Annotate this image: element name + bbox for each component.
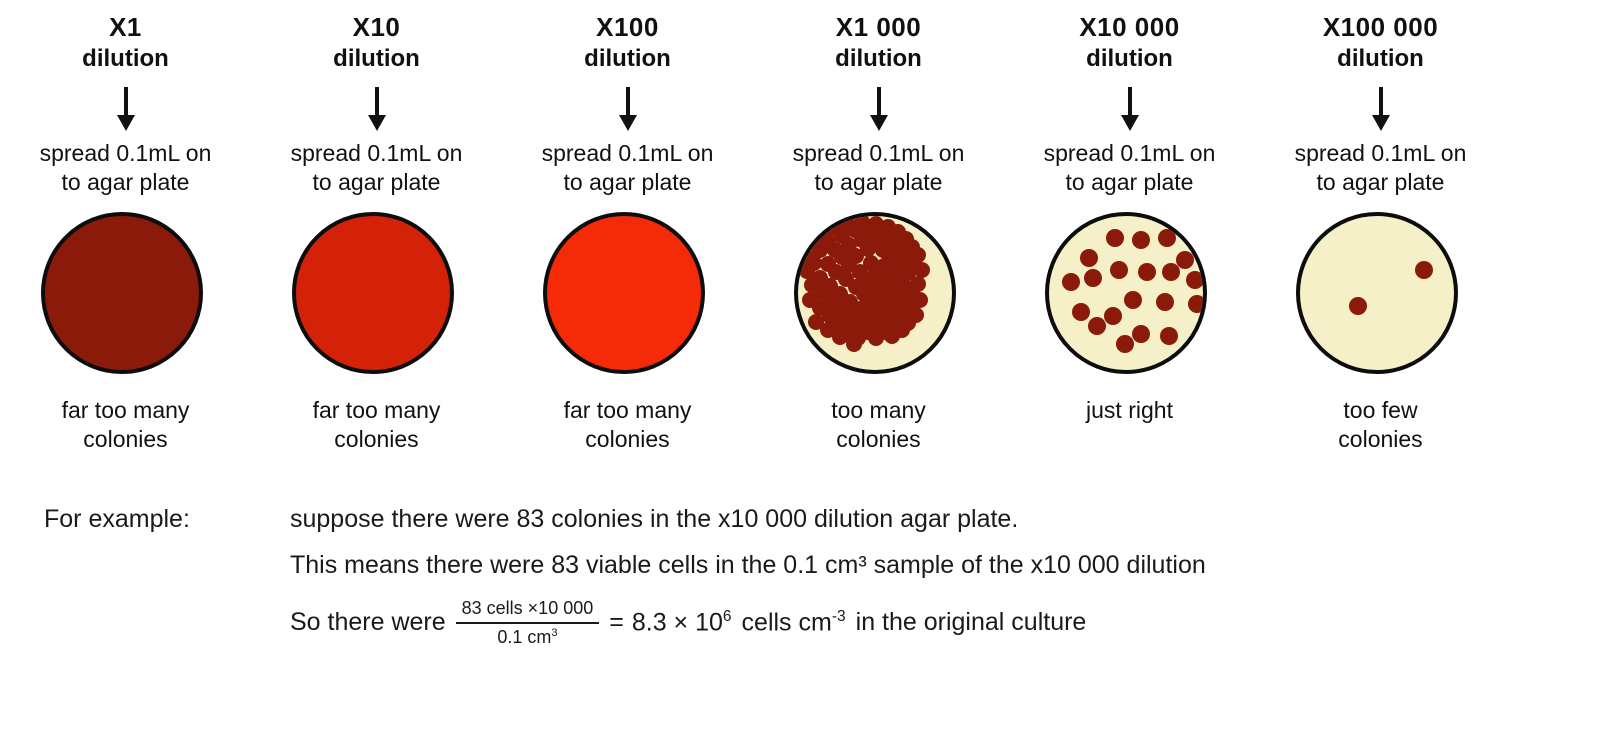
spread-instruction-line2: to agar plate: [1044, 168, 1216, 197]
plate-caption-line2: colonies: [62, 425, 190, 454]
spread-instruction: spread 0.1mL onto agar plate: [40, 139, 212, 196]
spread-instruction: spread 0.1mL onto agar plate: [291, 139, 463, 196]
colony: [1160, 327, 1178, 345]
example-calculation-block: For example: suppose there were 83 colon…: [0, 505, 1608, 648]
dilution-column-1: X1dilutionspread 0.1mL onto agar platefa…: [0, 0, 251, 500]
spread-instruction-line1: spread 0.1mL on: [40, 139, 212, 168]
example-label: For example:: [0, 505, 290, 534]
plate-caption-line2: colonies: [831, 425, 926, 454]
spread-instruction-line1: spread 0.1mL on: [793, 139, 965, 168]
spread-instruction: spread 0.1mL onto agar plate: [793, 139, 965, 196]
colony: [1062, 273, 1080, 291]
agar-plate-x1: [41, 212, 203, 374]
plate-caption: far too manycolonies: [313, 396, 441, 454]
dilution-subtitle: dilution: [1086, 44, 1173, 73]
colony: [1110, 261, 1128, 279]
plate-wrapper: [292, 212, 462, 382]
plate-caption-line1: too few: [1338, 396, 1422, 425]
colony: [1158, 229, 1176, 247]
dilution-subtitle: dilution: [835, 44, 922, 73]
spread-instruction: spread 0.1mL onto agar plate: [542, 139, 714, 196]
spread-instruction-line1: spread 0.1mL on: [542, 139, 714, 168]
spread-instruction-line1: spread 0.1mL on: [1295, 139, 1467, 168]
spread-instruction-line2: to agar plate: [291, 168, 463, 197]
colony: [1156, 293, 1174, 311]
dilution-title: X10 000: [1079, 12, 1179, 44]
down-arrow-icon: [615, 87, 641, 131]
dilution-column-4: X1 000dilutionspread 0.1mL onto agar pla…: [753, 0, 1004, 500]
example-equation-row: So there were 83 cells ×10 000 0.1 cm3 =…: [0, 597, 1608, 648]
plate-caption: far too manycolonies: [564, 396, 692, 454]
equation-units: cells cm-3: [742, 608, 846, 637]
colony: [1116, 335, 1134, 353]
colony: [1124, 291, 1142, 309]
agar-plate-x10000: [1045, 212, 1207, 374]
result-exponent: 6: [723, 608, 732, 625]
down-arrow-icon: [866, 87, 892, 131]
colony: [846, 336, 862, 352]
agar-plate-x100000: [1296, 212, 1458, 374]
plate-wrapper: [1296, 212, 1466, 382]
fraction-numerator: 83 cells ×10 000: [456, 597, 600, 622]
dilution-title: X10: [353, 12, 401, 44]
spread-instruction-line1: spread 0.1mL on: [1044, 139, 1216, 168]
colony: [1106, 229, 1124, 247]
spread-instruction-line2: to agar plate: [793, 168, 965, 197]
colony: [1349, 297, 1367, 315]
dilution-column-2: X10dilutionspread 0.1mL onto agar platef…: [251, 0, 502, 500]
dilution-column-3: X100dilutionspread 0.1mL onto agar plate…: [502, 0, 753, 500]
plate-caption-line1: far too many: [62, 396, 190, 425]
spread-instruction-line2: to agar plate: [1295, 168, 1467, 197]
down-arrow-icon: [1368, 87, 1394, 131]
units-exponent: -3: [832, 608, 846, 625]
equation-lead: So there were: [290, 608, 446, 637]
colony: [1188, 295, 1206, 313]
colony: [1138, 263, 1156, 281]
dilution-subtitle: dilution: [584, 44, 671, 73]
colony: [1132, 231, 1150, 249]
example-line-1: suppose there were 83 colonies in the x1…: [290, 505, 1608, 534]
plate-caption: far too manycolonies: [62, 396, 190, 454]
dilution-title: X100 000: [1323, 12, 1438, 44]
down-arrow-icon: [113, 87, 139, 131]
colony: [1415, 261, 1433, 279]
result-mantissa: 8.3 × 10: [632, 608, 723, 636]
plate-caption: just right: [1086, 396, 1173, 425]
equation-result: 8.3 × 106: [632, 608, 732, 637]
spread-instruction-line2: to agar plate: [542, 168, 714, 197]
equation-fraction: 83 cells ×10 000 0.1 cm3: [456, 597, 600, 648]
agar-plate-x10: [292, 212, 454, 374]
down-arrow-icon: [364, 87, 390, 131]
plate-caption-line2: colonies: [313, 425, 441, 454]
plate-caption-line1: far too many: [564, 396, 692, 425]
colony: [1162, 263, 1180, 281]
dilution-title: X1: [109, 12, 142, 44]
equation-equals: =: [609, 608, 624, 637]
plate-wrapper: [41, 212, 211, 382]
spread-instruction: spread 0.1mL onto agar plate: [1044, 139, 1216, 196]
colony: [1104, 307, 1122, 325]
plate-caption-line2: colonies: [564, 425, 692, 454]
agar-plate-x100: [543, 212, 705, 374]
example-line-2: This means there were 83 viable cells in…: [290, 551, 1608, 580]
units-base: cells cm: [742, 608, 832, 636]
dilution-subtitle: dilution: [333, 44, 420, 73]
plate-caption-line1: too many: [831, 396, 926, 425]
dilution-column-6: X100 000dilutionspread 0.1mL onto agar p…: [1255, 0, 1506, 500]
spread-instruction-line1: spread 0.1mL on: [291, 139, 463, 168]
colony: [884, 328, 900, 344]
plate-caption-line1: far too many: [313, 396, 441, 425]
plate-caption-line2: colonies: [1338, 425, 1422, 454]
spread-instruction: spread 0.1mL onto agar plate: [1295, 139, 1467, 196]
colony: [1084, 269, 1102, 287]
example-equation: So there were 83 cells ×10 000 0.1 cm3 =…: [290, 597, 1608, 648]
colony: [868, 330, 884, 346]
dilution-title: X100: [596, 12, 659, 44]
colony: [1088, 317, 1106, 335]
dilution-title: X1 000: [836, 12, 921, 44]
dilution-column-5: X10 000dilutionspread 0.1mL onto agar pl…: [1004, 0, 1255, 500]
spread-instruction-line2: to agar plate: [40, 168, 212, 197]
equation-tail: in the original culture: [856, 608, 1087, 637]
plate-caption: too manycolonies: [831, 396, 926, 454]
plate-wrapper: [543, 212, 713, 382]
colony: [1132, 325, 1150, 343]
example-line-2-row: This means there were 83 viable cells in…: [0, 551, 1608, 580]
dilution-subtitle: dilution: [1337, 44, 1424, 73]
plate-wrapper: [794, 212, 964, 382]
plate-wrapper: [1045, 212, 1215, 382]
example-intro-row: For example: suppose there were 83 colon…: [0, 505, 1608, 534]
dilution-series-row: X1dilutionspread 0.1mL onto agar platefa…: [0, 0, 1608, 500]
agar-plate-x1000: [794, 212, 956, 374]
down-arrow-icon: [1117, 87, 1143, 131]
plate-caption: too fewcolonies: [1338, 396, 1422, 454]
dilution-subtitle: dilution: [82, 44, 169, 73]
colony: [1072, 303, 1090, 321]
fraction-denominator: 0.1 cm3: [456, 622, 600, 649]
colony: [1186, 271, 1204, 289]
colony: [1080, 249, 1098, 267]
plate-caption-line1: just right: [1086, 396, 1173, 425]
